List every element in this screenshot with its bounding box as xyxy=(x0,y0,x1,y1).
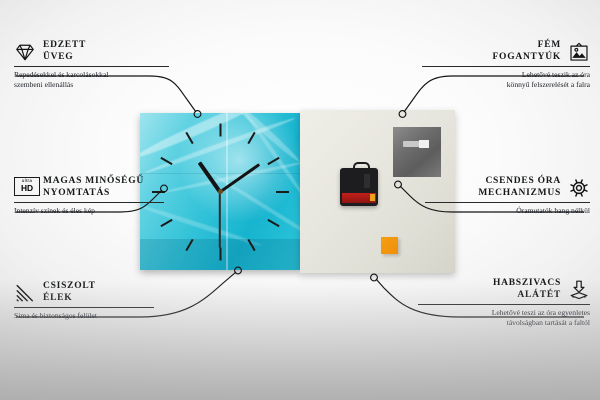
callout-description: Repedésekkel és karcolásokkal szembeni e… xyxy=(14,70,169,89)
mechanism-slot xyxy=(364,174,370,188)
divider xyxy=(14,307,154,308)
battery xyxy=(342,193,376,203)
callout-high-quality-print: ultra HD MAGAS MINŐSÉGŰ NYOMTATÁS Intenz… xyxy=(14,176,164,216)
callout-description: Óramutatók hang nélkül xyxy=(425,206,590,216)
callout-metal-handles: FÉM FOGANTYÚK Lehetővé teszik az óra kön… xyxy=(422,40,590,89)
clock-tick xyxy=(268,218,280,226)
callout-description: Intenzív színek és éles kép xyxy=(14,206,164,216)
press-pad-icon xyxy=(568,279,590,301)
callout-tempered-glass: EDZETT ÜVEG Repedésekkel és karcolásokka… xyxy=(14,40,169,89)
callout-foam-pad: HABSZIVACS ALÁTÉT Lehetővé teszi az óra … xyxy=(418,278,590,327)
hanger-slot xyxy=(403,141,429,147)
divider xyxy=(425,202,590,203)
callout-silent-mechanism: CSENDES ÓRA MECHANIZMUS Óramutatók hang … xyxy=(425,176,590,216)
clock-second-hand xyxy=(219,192,221,248)
callout-title: CSENDES ÓRA MECHANIZMUS xyxy=(478,176,561,199)
divider xyxy=(14,202,164,203)
callout-description: Lehetővé teszik az óra könnyű felszerelé… xyxy=(422,70,590,89)
clock-tick xyxy=(160,218,172,226)
feather-streak xyxy=(210,171,300,249)
ultra-hd-icon: ultra HD xyxy=(14,177,36,199)
hd-badge-bottom: HD xyxy=(21,184,33,192)
callout-description: Sima és biztonságos felület xyxy=(14,311,154,321)
callout-title: MAGAS MINŐSÉGŰ NYOMTATÁS xyxy=(43,176,144,199)
clock-front-image xyxy=(140,113,300,270)
clock-tick xyxy=(276,191,289,193)
clock-mechanism xyxy=(340,168,378,206)
gear-icon xyxy=(568,177,590,199)
infographic-canvas: EDZETT ÜVEG Repedésekkel és karcolásokka… xyxy=(0,0,600,400)
panel-seam xyxy=(226,113,228,270)
divider xyxy=(422,66,590,67)
divider xyxy=(418,304,590,305)
beveled-edge-icon xyxy=(14,282,36,304)
clock-tick xyxy=(219,123,221,136)
callout-title: HABSZIVACS ALÁTÉT xyxy=(493,278,561,301)
mechanism-loop xyxy=(353,162,370,172)
picture-hanger-icon xyxy=(568,41,590,63)
foam-pad xyxy=(381,237,398,254)
callout-title: EDZETT ÜVEG xyxy=(43,40,86,63)
callout-title: FÉM FOGANTYÚK xyxy=(493,40,562,63)
panel-seam xyxy=(140,173,300,174)
diamond-icon xyxy=(14,41,36,63)
clock-tick xyxy=(219,247,221,260)
metal-hanger-plate xyxy=(393,127,441,177)
callout-title: CSISZOLT ÉLEK xyxy=(43,281,96,304)
divider xyxy=(14,66,169,67)
callout-description: Lehetővé teszi az óra egyenletes távolsá… xyxy=(418,308,590,327)
clock-center-pin xyxy=(218,189,223,194)
callout-polished-edges: CSISZOLT ÉLEK Sima és biztonságos felüle… xyxy=(14,281,154,321)
